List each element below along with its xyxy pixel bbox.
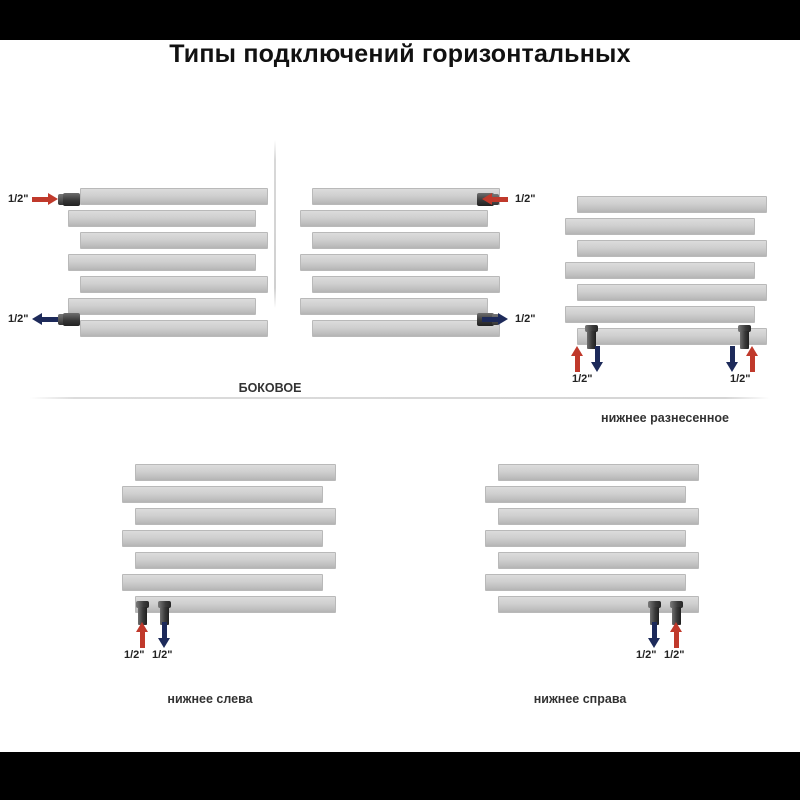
size-label-bottom-left-1: 1/2"	[8, 313, 29, 325]
radiator-slat	[485, 574, 686, 591]
size-label-br-2: 1/2"	[664, 649, 685, 661]
size-label-top-right-2: 1/2"	[515, 193, 536, 205]
radiator-slat	[135, 508, 336, 525]
supply-arrow-up-3b	[746, 346, 759, 372]
radiator-slat	[565, 306, 755, 323]
radiator-side-left	[68, 188, 268, 342]
radiator-slat	[300, 210, 488, 227]
diagram-canvas: Типы подключений горизонтальных 1/2" 1/2…	[0, 0, 800, 800]
letterbox-top	[0, 0, 800, 40]
size-label-bl-2: 1/2"	[152, 649, 173, 661]
valve-body	[63, 313, 80, 326]
radiator-slat	[68, 210, 256, 227]
radiator-slat	[68, 298, 256, 315]
caption-bottom-spread: нижнее разнесенное	[575, 411, 755, 425]
radiator-slat	[68, 254, 256, 271]
return-arrow-down-3a	[591, 346, 604, 372]
supply-arrow-left-2	[482, 193, 508, 206]
size-label-br-1: 1/2"	[636, 649, 657, 661]
radiator-slat	[122, 486, 323, 503]
size-label-bottom-right-2: 1/2"	[515, 313, 536, 325]
size-label-spread-right: 1/2"	[730, 373, 751, 385]
radiator-slat	[80, 188, 268, 205]
radiator-slat	[312, 276, 500, 293]
size-label-bl-1: 1/2"	[124, 649, 145, 661]
valve-bottom-left-1	[58, 313, 80, 326]
supply-arrow-up-3a	[571, 346, 584, 372]
size-label-top-left-1: 1/2"	[8, 193, 29, 205]
radiator-side-right	[300, 188, 500, 342]
letterbox-bottom	[0, 752, 800, 800]
radiator-slat	[577, 240, 767, 257]
caption-bottom-left: нижнее слева	[140, 692, 280, 706]
radiator-slat	[577, 196, 767, 213]
return-arrow-left-1	[32, 313, 58, 326]
return-arrow-down-5	[648, 622, 661, 648]
radiator-bottom-right	[485, 464, 699, 618]
radiator-slat	[485, 486, 686, 503]
valve-body	[63, 193, 80, 206]
valve-top-left-1	[58, 193, 80, 206]
radiator-slat	[312, 232, 500, 249]
radiator-slat	[498, 596, 699, 613]
radiator-slat	[300, 298, 488, 315]
supply-arrow-up-4	[136, 622, 149, 648]
radiator-slat	[565, 218, 755, 235]
radiator-slat	[122, 574, 323, 591]
radiator-slat	[312, 188, 500, 205]
vertical-divider	[274, 140, 276, 308]
return-arrow-right-2	[482, 313, 508, 326]
return-arrow-down-4	[158, 622, 171, 648]
horizontal-divider	[30, 397, 770, 399]
supply-arrow-up-5	[670, 622, 683, 648]
radiator-slat	[135, 552, 336, 569]
radiator-slat	[300, 254, 488, 271]
radiator-slat	[312, 320, 500, 337]
radiator-slat	[577, 284, 767, 301]
caption-side: БОКОВОЕ	[180, 381, 360, 395]
radiator-slat	[498, 552, 699, 569]
radiator-slat	[485, 530, 686, 547]
radiator-slat	[565, 262, 755, 279]
radiator-slat	[498, 464, 699, 481]
return-arrow-down-3b	[726, 346, 739, 372]
supply-arrow-right-1	[32, 193, 58, 206]
radiator-slat	[80, 276, 268, 293]
radiator-bottom-left	[122, 464, 336, 618]
radiator-slat	[135, 464, 336, 481]
radiator-slat	[498, 508, 699, 525]
radiator-slat	[122, 530, 323, 547]
radiator-slat	[80, 320, 268, 337]
page-title: Типы подключений горизонтальных	[0, 40, 800, 69]
radiator-slat	[80, 232, 268, 249]
caption-bottom-right: нижнее справа	[500, 692, 660, 706]
size-label-spread-left: 1/2"	[572, 373, 593, 385]
